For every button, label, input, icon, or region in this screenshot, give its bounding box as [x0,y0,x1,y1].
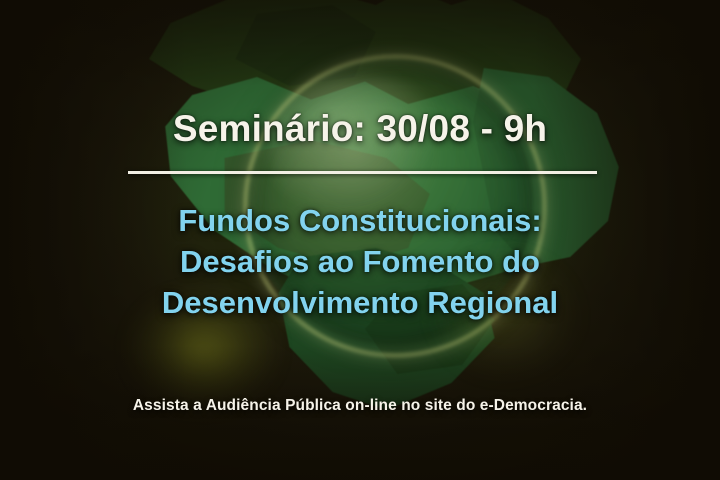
seminar-heading: Fundos Constitucionais: Desafios ao Fome… [0,200,720,324]
seminar-heading-line-1: Fundos Constitucionais: [0,200,720,241]
footer-note: Assista a Audiência Pública on-line no s… [0,397,720,415]
seminar-heading-line-2: Desafios ao Fomento do [0,241,720,282]
poster-content: Seminário: 30/08 - 9h Fundos Constitucio… [0,0,720,480]
seminar-heading-line-3: Desenvolvimento Regional [0,282,720,323]
event-poster: Seminário: 30/08 - 9h Fundos Constitucio… [0,0,720,480]
title-divider [128,171,597,174]
event-title: Seminário: 30/08 - 9h [0,110,720,147]
